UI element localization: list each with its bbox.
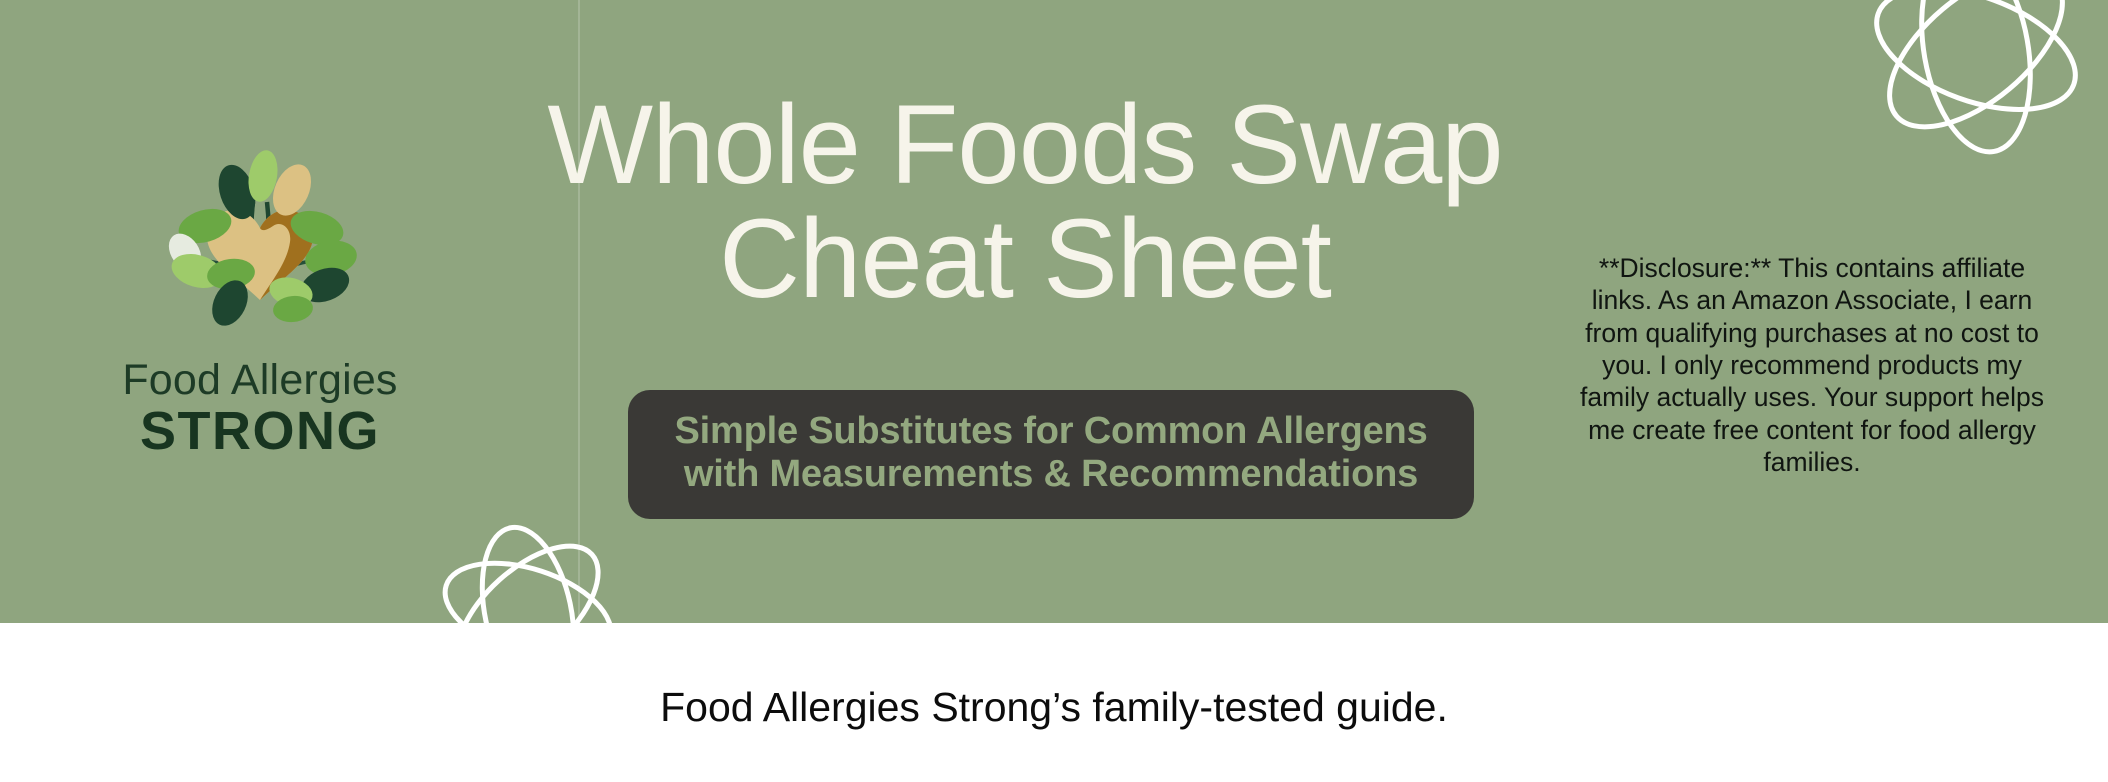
orbit-atom-bottom-left-icon [408,512,648,623]
page-title-line2: Cheat Sheet [430,202,1620,316]
subtitle-line2: with Measurements & Recommendations [656,453,1446,496]
brand-logo: Food Allergies STRONG [70,140,450,458]
affiliate-disclosure-text: **Disclosure:** This contains affiliate … [1578,252,2046,478]
page-title: Whole Foods Swap Cheat Sheet [430,88,1620,316]
hero-banner: Food Allergies STRONG Whole Foods Swap C… [0,0,2108,623]
subtitle-line1: Simple Substitutes for Common Allergens [656,410,1446,453]
orbit-atom-top-right-icon [1826,0,2108,169]
brand-name-line1: Food Allergies [70,359,450,402]
subtitle-badge: Simple Substitutes for Common Allergens … [628,390,1474,519]
caption-section: Food Allergies Strong’s family-tested gu… [0,623,2108,782]
page-title-line1: Whole Foods Swap [430,88,1620,202]
heart-and-leaves-logo-icon [135,140,385,355]
cheat-sheet-page: Food Allergies STRONG Whole Foods Swap C… [0,0,2108,782]
caption-text: Food Allergies Strong’s family-tested gu… [0,683,2108,732]
brand-name-line2: STRONG [70,404,450,458]
